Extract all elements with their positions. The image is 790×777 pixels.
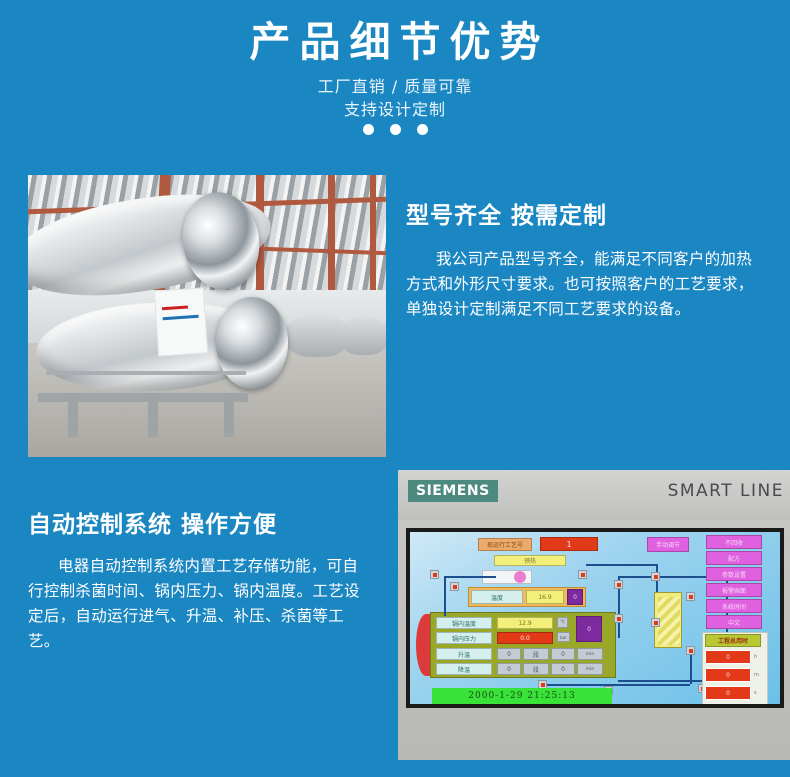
panel-row-2-time-unit: min [577, 648, 603, 660]
valve-node-icon[interactable] [578, 570, 587, 579]
valve-node-icon[interactable] [614, 580, 623, 589]
datetime-display: 2000-1-29 21:25:13 [432, 688, 612, 704]
page-title: 产品细节优势 [0, 18, 790, 66]
section-control-heading: 自动控制系统 操作方便 [28, 505, 370, 539]
skid-leg [68, 397, 78, 437]
panel-row-1-value: 0.0 [497, 632, 553, 644]
valve-node-icon[interactable] [686, 592, 695, 601]
total-time-seconds-unit: s [754, 690, 757, 696]
valve-node-icon[interactable] [614, 614, 623, 623]
total-time-hours: 0 [705, 650, 751, 664]
section-control: 自动控制系统 操作方便 电器自动控制系统内置工艺存储功能，可自行控制杀菌时间、锅… [28, 505, 370, 654]
total-time-label: 工程总用时 [705, 634, 761, 647]
valve-node-icon[interactable] [686, 646, 695, 655]
section-control-body: 电器自动控制系统内置工艺存储功能，可自行控制杀菌时间、锅内压力、锅内温度。工艺设… [28, 554, 370, 654]
menu-button-system-time[interactable]: 系统时间 [706, 599, 762, 613]
section-models: 型号齐全 按需定制 我公司产品型号齐全，能满足不同客户的加热方式和外形尺寸要求。… [406, 196, 754, 322]
panel-row-1-label: 锅内压力 [436, 632, 492, 644]
section-models-body: 我公司产品型号齐全，能满足不同客户的加热方式和外形尺寸要求。也可按照客户的工艺要… [406, 247, 754, 322]
panel-row-3-time[interactable]: 0 [551, 663, 575, 675]
process-number-value: 1 [540, 537, 598, 551]
temp-row-value: 16.9 [526, 590, 564, 604]
section-models-heading: 型号齐全 按需定制 [406, 196, 754, 230]
total-time-minutes: 0 [705, 668, 751, 682]
panel-row-2-segment[interactable]: 0 [497, 648, 521, 660]
valve-node-icon[interactable] [450, 582, 459, 591]
pipe-line [690, 650, 692, 684]
dot-icon [390, 124, 401, 135]
decorative-dots [0, 122, 790, 136]
valve-node-icon[interactable] [651, 618, 660, 627]
autoclave-factory-photo [28, 175, 386, 457]
siemens-logo: SIEMENS [408, 480, 498, 502]
temp-row-setpoint[interactable]: 0 [567, 589, 583, 605]
total-time-hours-unit: h [754, 654, 757, 660]
distant-vessel [286, 315, 348, 357]
page-header: 产品细节优势 工厂直销 / 质量可靠 支持设计定制 [0, 0, 790, 150]
skid-leg [148, 397, 158, 437]
autoclave-door-lower [216, 297, 288, 389]
panel-row-2-label: 升温 [436, 648, 492, 660]
subtitle-line-1: 工厂直销 / 质量可靠 [0, 75, 790, 98]
menu-button-recipe[interactable]: 配方 [706, 551, 762, 565]
distant-vessel [340, 317, 386, 355]
vessel-nameplate [154, 287, 208, 356]
menu-button-language[interactable]: 中文 [706, 615, 762, 629]
total-time-seconds: 0 [705, 686, 751, 700]
hmi-screen-surface: 现运行工艺号 1 手动调节 预热 温度 16.9 0 锅内温度 12.9 ℃ 0… [410, 532, 780, 704]
panel-row-0-value: 12.9 [497, 617, 553, 629]
panel-row-0-unit: ℃ [557, 617, 568, 628]
panel-row-3-time-unit: min [577, 663, 603, 675]
panel-row-3-label: 降温 [436, 663, 492, 675]
subtitle-line-2: 支持设计定制 [0, 98, 790, 121]
preheat-status-label: 预热 [494, 555, 566, 566]
valve-node-icon[interactable] [430, 570, 439, 579]
panel-row-2-time[interactable]: 0 [551, 648, 575, 660]
panel-row-0-setpoint[interactable]: 0 [576, 616, 602, 642]
hmi-model-text: SMART LINE [668, 481, 784, 501]
temp-row-label: 温度 [471, 590, 523, 604]
pipe-line [540, 684, 690, 686]
skid-leg [224, 397, 234, 437]
menu-button-alarm-screen[interactable]: 报警画面 [706, 583, 762, 597]
panel-row-0-label: 锅内温度 [436, 617, 492, 629]
page-subtitle: 工厂直销 / 质量可靠 支持设计定制 [0, 75, 790, 121]
pipe-line [444, 576, 496, 578]
menu-button-parameter-settings[interactable]: 参数设置 [706, 567, 762, 581]
hmi-panel-photo: SIEMENS SMART LINE 现运行工艺号 1 手动调节 预热 温度 1… [398, 470, 790, 760]
process-number-label: 现运行工艺号 [478, 538, 532, 551]
hmi-screen[interactable]: 现运行工艺号 1 手动调节 预热 温度 16.9 0 锅内温度 12.9 ℃ 0… [406, 528, 784, 708]
menu-button-no-recovery[interactable]: 不回收 [706, 535, 762, 549]
valve-indicator-icon [514, 571, 526, 583]
dot-icon [417, 124, 428, 135]
panel-row-1-unit: bar [557, 632, 570, 642]
dot-icon [363, 124, 374, 135]
panel-row-3-segment-unit: 段 [523, 663, 549, 675]
valve-node-icon[interactable] [651, 572, 660, 581]
panel-row-3-segment[interactable]: 0 [497, 663, 521, 675]
panel-row-2-segment-unit: 段 [523, 648, 549, 660]
total-time-minutes-unit: m [754, 672, 759, 678]
pipe-line [586, 564, 656, 566]
pipe-line [444, 576, 446, 616]
manual-adjust-button[interactable]: 手动调节 [647, 537, 689, 552]
pipe-run [46, 371, 246, 375]
